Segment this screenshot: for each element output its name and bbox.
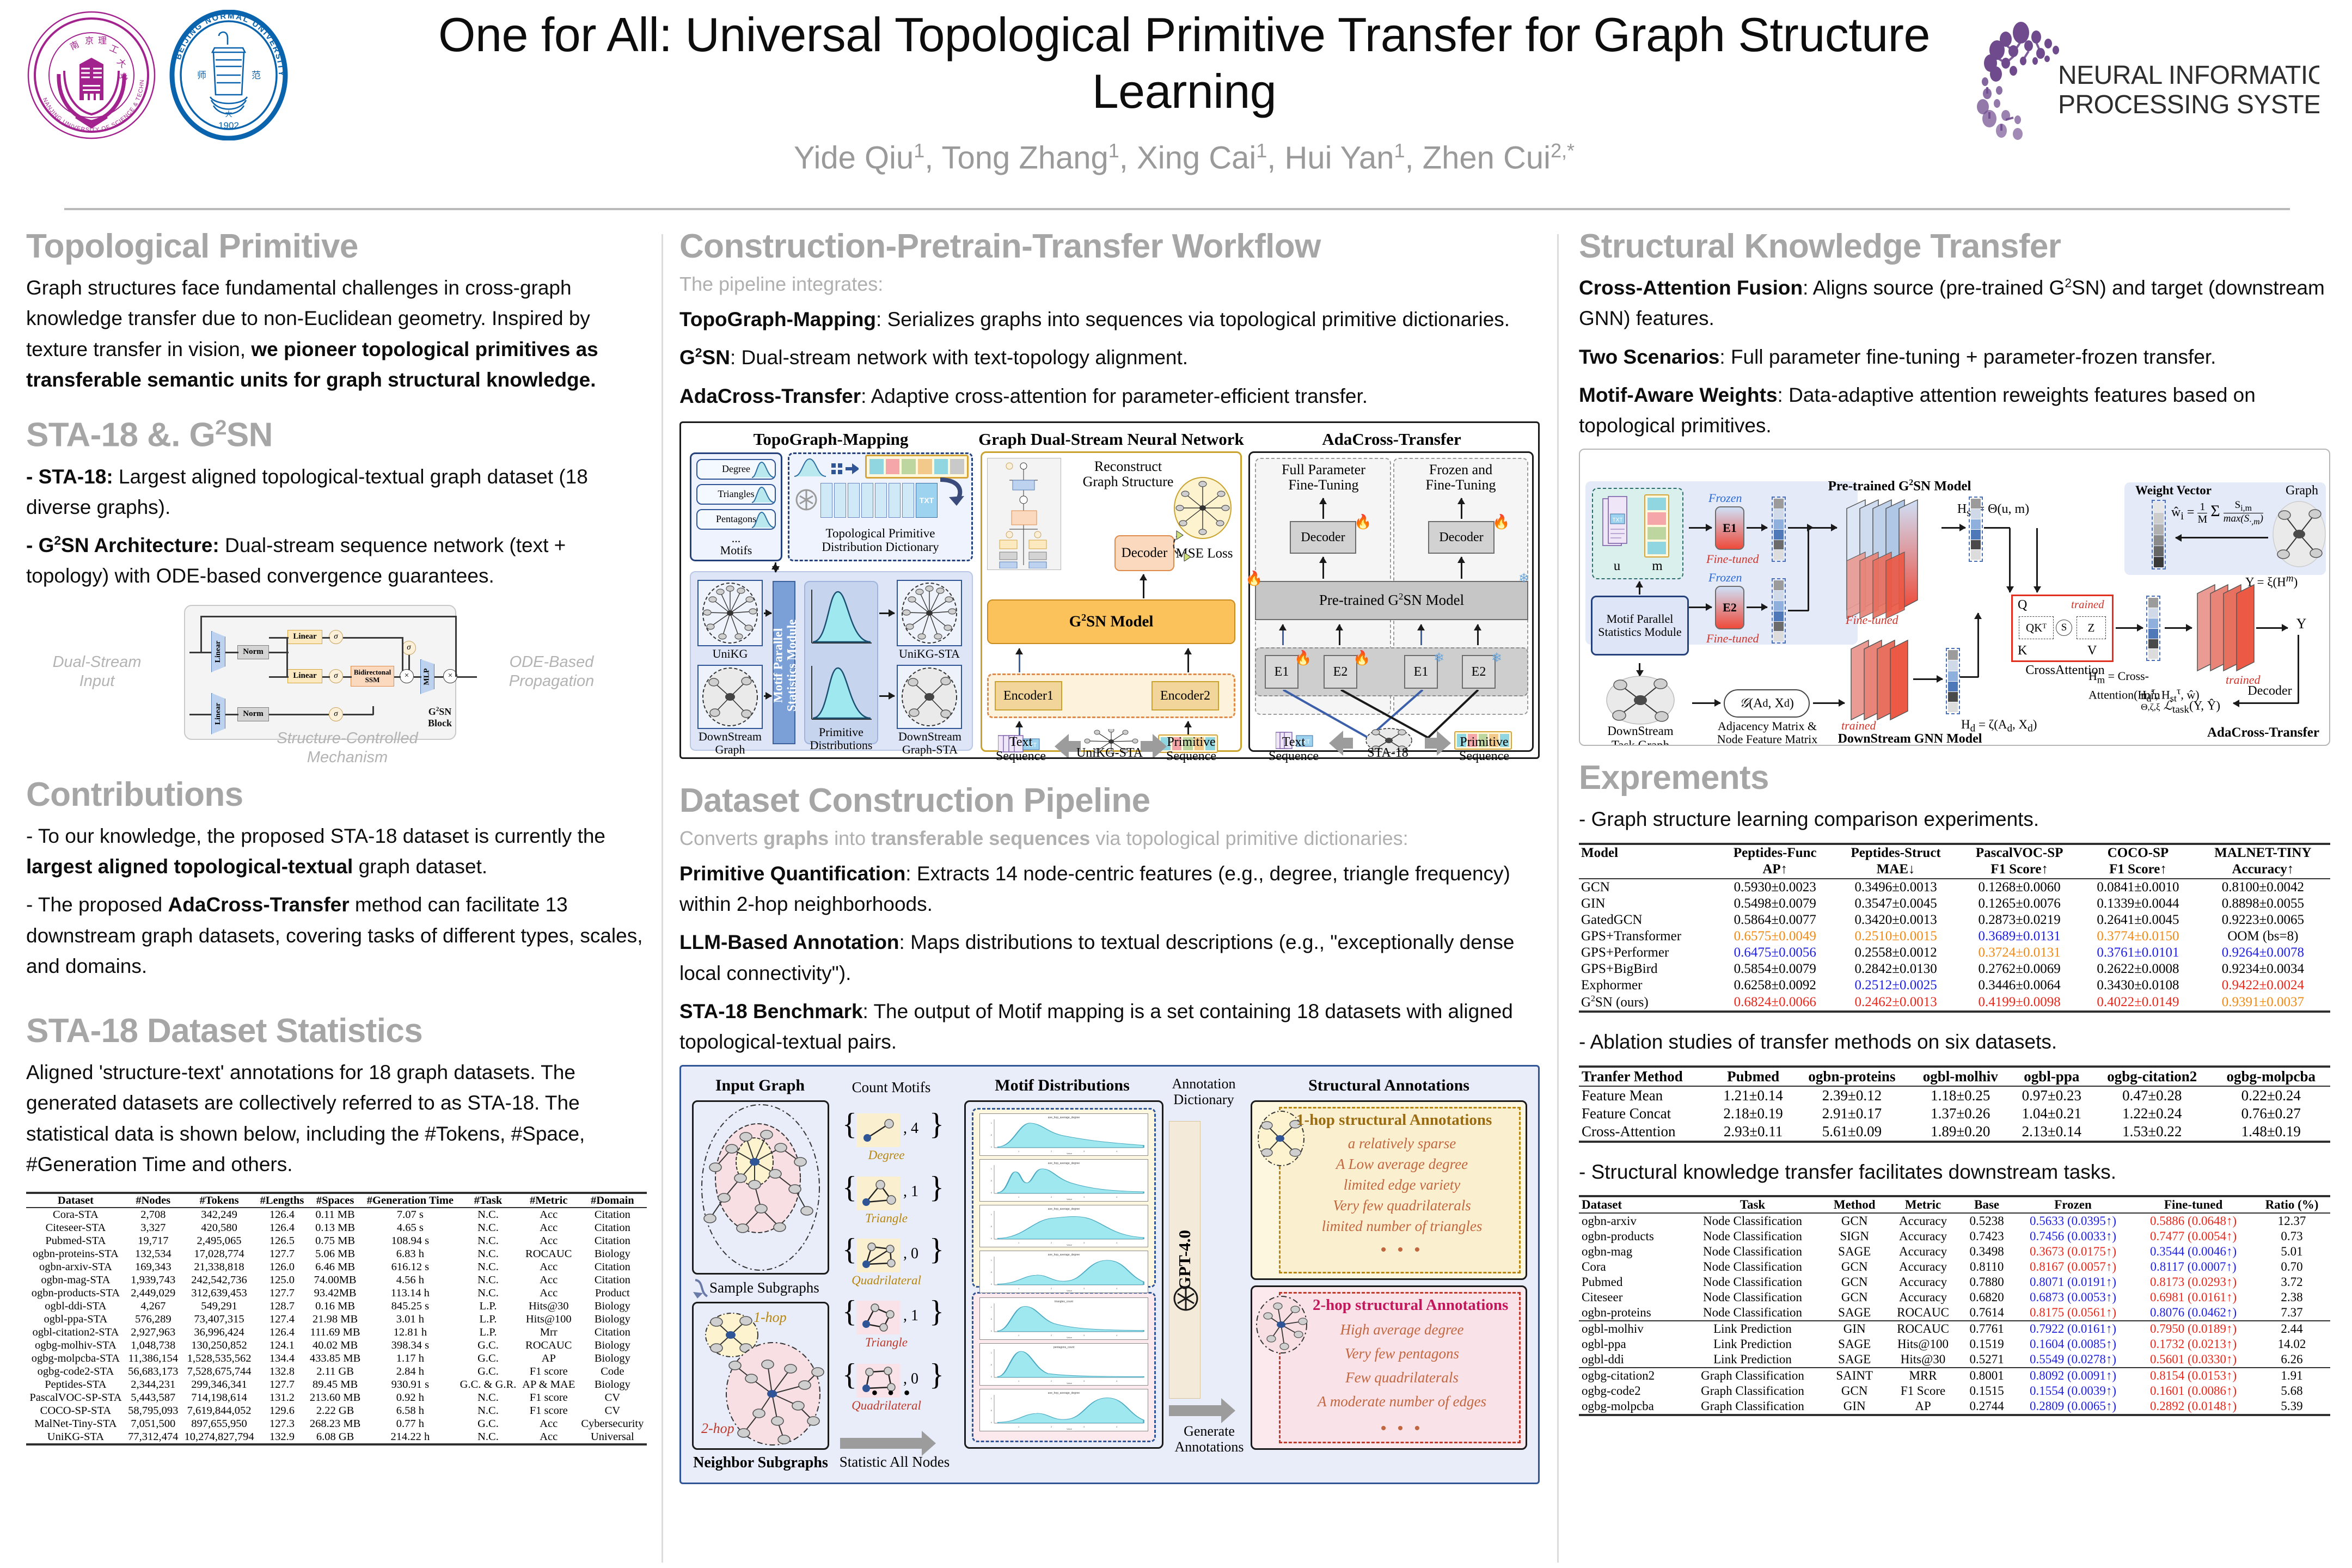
stats-cell: 4.56 h [364,1273,457,1287]
ds-cell: ogbn-proteins [1579,1305,1681,1321]
bullet-adacross-transfer: AdaCross-Transfer: Adaptive cross-attent… [679,381,1540,412]
exp1-cell: 0.8898±0.0055 [2196,896,2330,912]
weight-vector-strip [2152,500,2166,569]
stats-cell: Acc [519,1417,578,1430]
z-box: Z [2077,616,2106,639]
ds-cell: Node Classification [1681,1290,1823,1305]
svg-text:大: 大 [225,110,232,118]
kde-plot: triangles_count0.511234Value [979,1297,1148,1340]
stats-cell: ogbl-ddi-STA [26,1300,125,1313]
stats-cell: 0.13 MB [307,1221,364,1234]
motif-parallel-stats-box: Motif ParallelStatistics Module [1591,596,1689,656]
frozen-label-2: Frozen [1708,571,1742,585]
svg-text:0: 0 [991,1146,993,1148]
left-column: Topological Primitive Graph structures f… [26,229,647,1445]
svg-text:Value: Value [1067,1428,1073,1430]
motif-parallel-module: Motif ParallelStatistics Module [773,581,795,744]
stats-cell: PascalVOC-SP-STA [26,1391,125,1404]
count-motifs-ellipsis: • • • [840,1382,944,1404]
stats-cell: ogbn-proteins-STA [26,1247,125,1260]
stats-cell: 213.60 MB [307,1391,364,1404]
exp1-model: GPS+BigBird [1579,961,1717,977]
qkt-box: QKᵀ [2019,616,2054,639]
ann1-item: Very few quadrilaterals [1285,1197,1518,1214]
flame-icon-4: 🔥 [1294,651,1312,665]
abl-cell: 1.04±0.21 [2011,1105,2093,1123]
motif-strip-icon [1644,494,1669,558]
stats-cell: N.C. [457,1234,519,1247]
dictionary-label: Topological PrimitiveDistribution Dictio… [790,526,971,554]
q-label: Q [2018,598,2027,612]
ann1-ellipsis: • • • [1285,1241,1518,1259]
table-row: Pubmed-STA19,7172,495,065126.50.75 MB108… [26,1234,647,1247]
weight-vector-label: Weight Vector [2124,483,2222,497]
stats-cell: MalNet-Tiny-STA [26,1417,125,1430]
stats-cell: Citation [578,1260,647,1273]
stats-cell: 132.8 [257,1365,307,1378]
g2sn-block-label: G2SNBlock [407,706,473,730]
stats-cell: 2.22 GB [307,1404,364,1417]
stats-cell: N.C. [457,1247,519,1260]
exp1-cell: 0.2510±0.0015 [1833,928,1958,945]
sta18-statistics-paragraph: Aligned 'structure-text' annotations for… [26,1057,647,1180]
stats-cell: G.C. [457,1417,519,1430]
kde-curve-2 [810,663,874,722]
exp1-table: ModelPeptides-FuncPeptides-StructPascalV… [1579,843,2330,1013]
ds-cell: ogbl-ddi [1579,1352,1681,1368]
primitive-sequence-label-right: PrimitiveSequence [1441,735,1528,764]
ds-cell: 0.6820 [1961,1290,2013,1305]
brace-close: } [929,1110,944,1139]
ds-cell: F1 Score [1885,1383,1961,1399]
exp1-cell: 0.8100±0.0042 [2196,879,2330,896]
contribution-1: - To our knowledge, the proposed STA-18 … [26,821,647,882]
stats-cell: 10,274,827,794 [181,1430,258,1444]
page-title: One for All: Universal Topological Primi… [436,7,1933,120]
stats-cell: 127.3 [257,1417,307,1430]
svg-text:Value: Value [1067,1244,1073,1246]
exp1-cell: 0.5854±0.0079 [1717,961,1833,977]
unikg-sta-label: UniKG-STA [891,647,967,660]
stats-cell: Biology [578,1247,647,1260]
stats-cell: G.C. [457,1365,519,1378]
stats-cell: ogbl-ppa-STA [26,1313,125,1326]
ds-cell: Graph Classification [1681,1368,1823,1383]
brace-close: } [929,1297,944,1326]
stats-cell: 132.9 [257,1430,307,1444]
table-row: ogbg-molpcbaGraph ClassificationGINAP0.2… [1579,1399,2330,1415]
svg-text:1: 1 [1018,1334,1020,1337]
label-dual-stream-input: Dual-StreamInput [26,653,168,691]
motif-name: Degree [846,1148,927,1162]
stats-cell: AP [519,1352,578,1365]
snow-icon-1: ❄ [1518,572,1529,585]
ds-finetuned: 0.8076 (0.0462↑) [2133,1305,2253,1321]
ds-cell: Graph Classification [1681,1399,1823,1415]
abl-cell: 2.39±0.12 [1794,1086,1910,1105]
abl-cell: 2.91±0.17 [1794,1105,1910,1123]
stats-cell: ogbn-products-STA [26,1287,125,1300]
abl-cell: 2.93±0.11 [1712,1123,1794,1142]
table-row: GatedGCN0.5864±0.00770.3420±0.00130.2873… [1579,912,2330,928]
table-row: ogbl-ddiLink PredictionSAGEHits@300.5271… [1579,1352,2330,1368]
stats-cell: Citation [578,1273,647,1287]
motif-count: , 4 [903,1120,918,1137]
exp1-cell: 0.6824±0.0066 [1717,994,1833,1012]
bullet-g2sn-arch: - G2SN Architecture: Dual-stream sequenc… [26,530,647,591]
stats-cell: Biology [578,1339,647,1352]
table-row: ogbl-ppa-STA576,28973,407,315127.421.98 … [26,1313,647,1326]
ds-cell: GCN [1824,1213,1885,1229]
stats-col-5: #Generation Time [364,1193,457,1208]
brace-close: } [929,1235,944,1264]
neighbor-subgraphs-label: Neighbor Subgraphs [687,1454,835,1472]
table-row: GPS+Performer0.6475±0.00560.2558±0.00120… [1579,945,2330,961]
stats-cell: 1.17 h [364,1352,457,1365]
svg-text:3: 3 [1083,1380,1085,1382]
table-row: ogbn-magNode ClassificationSAGEAccuracy0… [1579,1244,2330,1259]
heading-workflow: Construction-Pretrain-Transfer Workflow [679,229,1540,264]
bullet-sta18-benchmark: STA-18 Benchmark: The output of Motif ma… [679,996,1540,1057]
svg-text:.5: .5 [990,1363,993,1366]
stats-cell: 1,048,738 [125,1339,181,1352]
text-doc-icon: TXT [1602,495,1632,556]
openai-glyph-1 [794,487,818,512]
stats-cell: ogbg-molhiv-STA [26,1339,125,1352]
svg-text:师: 师 [197,70,206,81]
primitive-seq-strip [865,455,969,479]
stats-cell: 549,291 [181,1300,258,1313]
svg-text:3: 3 [1083,1150,1085,1153]
stats-cell: Universal [578,1430,647,1444]
table-row: ogbg-citation2Graph ClassificationSAINTM… [1579,1368,2330,1383]
ds-cell: ROCAUC [1885,1305,1961,1321]
brace-close: } [929,1173,944,1202]
stats-cell: 130,250,852 [181,1339,258,1352]
table-row: ogbn-arxivNode ClassificationGCNAccuracy… [1579,1213,2330,1229]
label-ode-propagation: ODE-BasedPropagation [464,653,639,691]
svg-text:1: 1 [1018,1380,1020,1382]
stats-cell: N.C. [457,1404,519,1417]
ds-cell: Hits@100 [1885,1337,1961,1352]
svg-text:0: 0 [991,1283,993,1285]
exp1-model: GCN [1579,879,1717,896]
exp1-cell: 0.2558±0.0012 [1833,945,1958,961]
stats-cell: 124.1 [257,1339,307,1352]
stats-cell: 126.5 [257,1234,307,1247]
label-structure-controlled: Structure-ControlledMechanism [233,729,462,767]
ds-ratio: 2.44 [2253,1321,2330,1337]
ds-col-4: Base [1961,1196,2013,1213]
stats-cell: 214.22 h [364,1430,457,1444]
stats-cell: AP & MAE [519,1378,578,1391]
stats-cell: Citeseer-STA [26,1221,125,1234]
ds-cell: 0.5271 [1961,1352,2013,1368]
trained-label-2: trained [2071,598,2104,611]
ds-ratio: 2.38 [2253,1290,2330,1305]
exp1-cell: 0.0841±0.0010 [2080,879,2196,896]
ds-header-row: DatasetTaskMethodMetricBaseFrozenFine-tu… [1579,1196,2330,1213]
stats-cell: 342,249 [181,1208,258,1221]
stats-cell: 398.34 s [364,1339,457,1352]
neurips-line2: PROCESSING SYSTEMS [2058,90,2319,119]
ds-cell: 0.1515 [1961,1383,2013,1399]
norm-box-1: Norm [237,645,269,659]
stats-cell: 6.46 MB [307,1260,364,1273]
svg-text:4: 4 [1116,1380,1118,1382]
graph-icon-right [2270,500,2328,568]
svg-text:ave_hop_average_degree: ave_hop_average_degree [1048,1392,1080,1395]
column-divider-2 [1557,234,1559,1563]
svg-text:Value: Value [1067,1152,1073,1155]
ds-frozen: 0.7922 (0.0161↑) [2013,1321,2133,1337]
svg-text:Value: Value [1067,1382,1073,1385]
svg-text:.5: .5 [990,1409,993,1412]
table-row: Citeseer-STA3,327420,580126.40.13 MB4.65… [26,1221,647,1234]
ds-cell: Citeseer [1579,1290,1681,1305]
ds-frozen: 0.2809 (0.0065↑) [2013,1399,2133,1415]
stats-cell: Cora-STA [26,1208,125,1221]
stats-cell: Biology [578,1378,647,1391]
stats-cell: ROCAUC [519,1339,578,1352]
heading-sta18-g2sn: STA-18 &. G2SN [26,417,647,453]
exp1-col-5: MALNET-TINY [2196,844,2330,862]
stats-col-3: #Lengths [257,1193,307,1208]
svg-text:1: 1 [991,1122,993,1124]
neurips-logo: NEURAL INFORMATION PROCESSING SYSTEMS [1949,11,2319,142]
workflow-panel2-title: Graph Dual-Stream Neural Network [978,430,1245,449]
ds-cell: 0.7761 [1961,1321,2013,1337]
svg-text:triangles_count: triangles_count [1055,1300,1074,1303]
ann2-item: Few quadrilaterals [1285,1369,1518,1386]
abl-cell: 1.22±0.24 [2092,1105,2212,1123]
exp1-table-wrap: ModelPeptides-FuncPeptides-StructPascalV… [1579,843,2330,1013]
stats-cell: 6.58 h [364,1404,457,1417]
ds-cell: GCN [1824,1290,1885,1305]
svg-text:1: 1 [991,1397,993,1400]
e2-box-full: E2 [1324,655,1357,689]
ds-cell: Accuracy [1885,1213,1961,1229]
pretrained-g2sn-box: Pre-trained G2SN Model [1255,581,1528,620]
exp1-cell: 0.5864±0.0077 [1717,912,1833,928]
svg-text:京: 京 [85,36,94,46]
bullet-two-scenarios: Two Scenarios: Full parameter fine-tunin… [1579,342,2330,372]
input-graph-box [692,1100,829,1275]
adjacency-label: Adjacency Matrix &Node Feature Matrix [1704,720,1830,746]
pipeline-lead: Converts graphs into transferable sequen… [679,827,1540,850]
svg-text:2: 2 [1051,1287,1052,1290]
ablation-table: Tranfer MethodPubmedogbn-proteinsogbl-mo… [1579,1065,2330,1143]
ds-ratio: 3.72 [2253,1275,2330,1290]
ds-cell: 0.5238 [1961,1213,2013,1229]
table-row: GPS+BigBird0.5854±0.00790.2842±0.01300.2… [1579,961,2330,977]
stats-cell: Citation [578,1326,647,1339]
exp1-cell: OOM (bs=8) [2196,928,2330,945]
stats-cell: Acc [519,1221,578,1234]
ds-frozen: 0.8092 (0.0091↑) [2013,1368,2133,1383]
flame-icon-2: 🔥 [1492,514,1510,529]
openai-glyph-2 [1172,1284,1199,1313]
downstream-table: DatasetTaskMethodMetricBaseFrozenFine-tu… [1579,1195,2330,1416]
ds-frozen: 0.1554 (0.0039↑) [2013,1383,2133,1399]
stats-cell: 58,795,093 [125,1404,181,1417]
text-sequence-label-right: TextSequence [1250,735,1337,764]
stats-cell: 433.85 MB [307,1352,364,1365]
bullet-sta18: - STA-18: Largest aligned topological-te… [26,462,647,523]
stats-cell: 6.83 h [364,1247,457,1260]
ds-col-2: Method [1824,1196,1885,1213]
ds-col-5: Frozen [2013,1196,2133,1213]
downstream-task-graph-label: DownStreamTask Graph [1589,724,1692,746]
figure-pipeline: Input Graph Count Motifs Motif Distribut… [679,1065,1540,1484]
table-row: ogbg-molhiv-STA1,048,738130,250,852124.1… [26,1339,647,1352]
svg-text:1: 1 [991,1306,993,1308]
exp1-col-2: Peptides-Struct [1833,844,1958,862]
stats-cell: 268.23 MB [307,1417,364,1430]
stats-cell: 299,346,341 [181,1378,258,1391]
abl-cell: 2.18±0.19 [1712,1105,1794,1123]
flame-icon-1: 🔥 [1354,514,1371,529]
brace-open: { [842,1297,857,1326]
exp1-cell: 0.6258±0.0092 [1717,977,1833,994]
ds-cell: ogbg-citation2 [1579,1368,1681,1383]
mlp-trapezoid: MLP [420,659,434,694]
exp1-header-l2: AP↑MAE↓F1 Score↑F1 Score↑Accuracy↑ [1579,861,2330,879]
stats-cell: 19,717 [125,1234,181,1247]
table-row: ogbl-ddi-STA4,267549,291128.70.16 MB845.… [26,1300,647,1313]
stats-cell: Biology [578,1300,647,1313]
stats-cell: 21,338,818 [181,1260,258,1273]
caption-exp1: - Graph structure learning comparison ex… [1579,804,2330,835]
stats-cell: 74.00MB [307,1273,364,1287]
linear-trapezoid-1: Linear [211,631,225,672]
svg-text:.5: .5 [990,1225,993,1228]
table-row: Cora-STA2,708342,249126.40.11 MB7.07 sN.… [26,1208,647,1221]
table-row: ogbn-proteins-STA132,53417,028,774127.75… [26,1247,647,1260]
ds-finetuned: 0.7477 (0.0054↑) [2133,1229,2253,1244]
stats-cell: 2,344,231 [125,1378,181,1391]
svg-text:1: 1 [991,1167,993,1170]
stats-cell: 0.75 MB [307,1234,364,1247]
table-row: Cross-Attention2.93±0.115.61±0.091.89±0.… [1579,1123,2330,1142]
svg-text:3: 3 [1083,1334,1085,1337]
linear-box-2: Linear [287,669,322,683]
ds-cell: SAINT [1824,1368,1885,1383]
svg-text:2: 2 [1051,1334,1052,1337]
stats-cell: 7.07 s [364,1208,457,1221]
middle-column: Construction-Pretrain-Transfer Workflow … [679,229,1540,1484]
bullet-topograph-mapping: TopoGraph-Mapping: Serializes graphs int… [679,304,1540,335]
abl-cell: 5.61±0.09 [1794,1123,1910,1142]
table-row: PubmedNode ClassificationGCNAccuracy0.78… [1579,1275,2330,1290]
snow-icon-2: ❄ [1434,652,1444,665]
svg-text:3: 3 [1083,1241,1085,1244]
neighbor-subgraphs-box: 1-hop 2-hop [692,1302,829,1450]
sigma-3: σ [329,707,343,721]
frozen-ft-label: Frozen andFine-Tuning [1395,462,1526,493]
exp1-cell: 0.1268±0.0060 [1958,879,2080,896]
stats-cell: 5,443,587 [125,1391,181,1404]
table-body: Cora-STA2,708342,249126.40.11 MB7.07 sN.… [26,1208,647,1444]
svg-text:0: 0 [991,1330,993,1332]
text-sequence-label-mid: TextSequence [980,735,1062,764]
ds-cell: SAGE [1824,1244,1885,1259]
ds-frozen: 0.6873 (0.0053↑) [2013,1290,2133,1305]
stats-cell: Acc [519,1234,578,1247]
exp1-cell: 0.3761±0.0101 [2080,945,2196,961]
exp1-cell: 0.5498±0.0079 [1717,896,1833,912]
stats-cell: 242,542,736 [181,1273,258,1287]
abl-cell: 1.18±0.25 [1910,1086,2011,1105]
heading-contributions: Contributions [26,777,647,812]
frozen-label-1: Frozen [1708,491,1742,505]
dictionary-kde-icon [793,457,859,479]
stats-cell: Code [578,1365,647,1378]
abl-cell: 2.13±0.14 [2011,1123,2093,1142]
stats-cell: 128.7 [257,1300,307,1313]
ds-finetuned: 0.5886 (0.0648↑) [2133,1213,2253,1229]
ds-cell: Cora [1579,1259,1681,1275]
ds-finetuned: 0.6981 (0.0161↑) [2133,1290,2253,1305]
full-param-label: Full ParameterFine-Tuning [1257,462,1390,493]
count-motif-item: {, 1}Triangle [840,1297,949,1354]
motif-shape [856,1239,900,1272]
ds-frozen: 0.3673 (0.0175↑) [2013,1244,2133,1259]
exp1-cell: 0.4022±0.0149 [2080,994,2196,1012]
exp1-cell: 0.2641±0.0045 [2080,912,2196,928]
stats-cell: 126.4 [257,1326,307,1339]
table-row: ogbg-code2-STA56,683,1737,528,675,744132… [26,1365,647,1378]
heading-dataset-pipeline: Dataset Construction Pipeline [679,783,1540,818]
stats-cell: 714,198,614 [181,1391,258,1404]
exp1-cell: 0.9234±0.0034 [2196,961,2330,977]
bnu-logo: 师 范 大 1902 BEIJING NORMAL UNIVERSITY [163,10,294,140]
ds-cell: GIN [1824,1399,1885,1415]
svg-text:ave_hop_average_degree: ave_hop_average_degree [1048,1253,1080,1257]
count-motif-item: {, 4}Degree [840,1110,949,1167]
svg-text:南: 南 [69,39,81,52]
exp1-cell: 0.6575±0.0049 [1717,928,1833,945]
stats-cell: ogbn-arxiv-STA [26,1260,125,1273]
table-row: CoraNode ClassificationGCNAccuracy0.8110… [1579,1259,2330,1275]
stats-cell: 2.84 h [364,1365,457,1378]
poster-header: 1953 南 京 理 工 大 学 NANJING UNIVERSITY OF S… [0,0,2352,218]
brace-open: { [842,1110,857,1139]
svg-text:2: 2 [1051,1425,1052,1428]
svg-text:Value: Value [1067,1336,1073,1339]
ds-cell: SAGE [1824,1305,1885,1321]
abl-body: Feature Mean1.21±0.142.39±0.121.18±0.250… [1579,1086,2330,1142]
stats-cell: 134.4 [257,1352,307,1365]
ds-col-1: Task [1681,1196,1823,1213]
stats-col-1: #Nodes [125,1193,181,1208]
ds-finetuned: 0.8117 (0.0007↑) [2133,1259,2253,1275]
kde-curve-1 [810,586,874,646]
count-motif-item: {, 0}Quadrilateral [840,1235,949,1292]
stats-cell: 0.11 MB [307,1208,364,1221]
norm-box-2: Norm [237,707,269,721]
abl-cell: 1.21±0.14 [1712,1086,1794,1105]
heading-experiments: Exprements [1579,760,2330,795]
stats-col-7: #Metric [519,1193,578,1208]
unikg-sta-graph-box [897,580,962,646]
table-row: Feature Mean1.21±0.142.39±0.121.18±0.250… [1579,1086,2330,1105]
g2sn-inner-block [987,458,1061,570]
finetuned-label-2: Fine-tuned [1706,632,1759,646]
e1-box-full: E1 [1265,655,1298,689]
sta18-statistics-table: Dataset#Nodes#Tokens#Lengths#Spaces#Gene… [26,1192,647,1445]
ds-cell: SIGN [1824,1229,1885,1244]
